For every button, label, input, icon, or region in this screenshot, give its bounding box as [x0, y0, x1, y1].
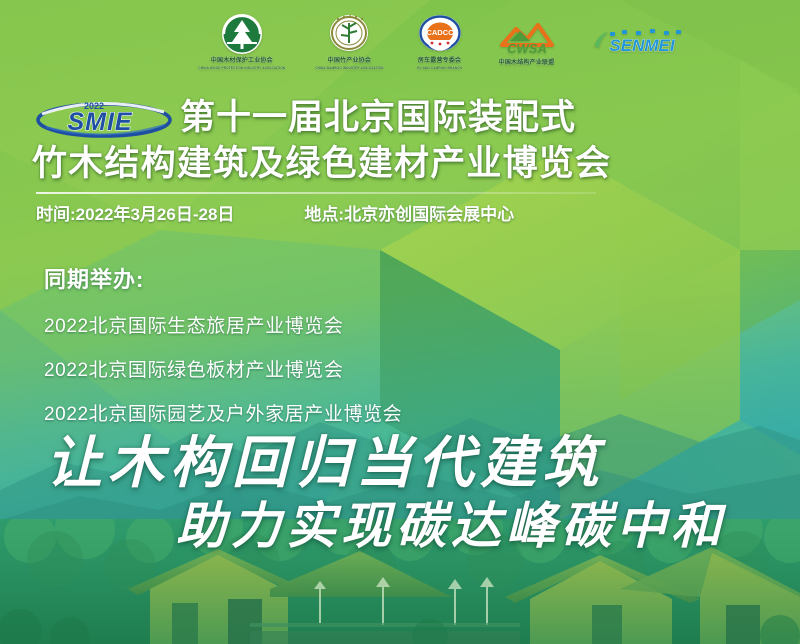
headline-line-1: 第十一届北京国际装配式: [180, 97, 576, 139]
concurrent-item: 2022北京国际绿色板材产业博览会: [44, 355, 664, 382]
cadcc-emblem-icon: CADCC: [414, 13, 466, 57]
svg-text:CADCC: CADCC: [426, 28, 454, 37]
logo-caption: 中国木结构产业联盟: [499, 60, 555, 67]
logo-china-wood-protection-industry-association[interactable]: 中国木材保护工业协会 CHINA WOOD PROTECTION INDUSTR…: [198, 13, 285, 70]
logo-senmei[interactable]: SENMEI: [588, 24, 692, 58]
logo-caption: 中国竹产业协会: [328, 58, 371, 65]
exhibition-poster: 中国木材保护工业协会 CHINA WOOD PROTECTION INDUSTR…: [0, 0, 800, 644]
logo-caption-en: CHINA BAMBOO INDUSTRY ASSOCIATION: [315, 66, 383, 70]
logo-caption: 房车露营专委会: [418, 58, 461, 65]
bamboo-emblem-icon: [324, 13, 374, 57]
house-roof-cwsa-icon: CWSA: [496, 15, 558, 59]
logo-caption-en: CHINA WOOD PROTECTION INDUSTRY ASSOCIATI…: [198, 66, 285, 70]
senmei-wordmark-icon: SENMEI: [588, 24, 692, 58]
logo-cadcc-rv-camping-committee[interactable]: CADCC 房车露营专委会 RV AND CAMPING BRANCH: [414, 13, 466, 70]
headline-line-2: 竹木结构建筑及绿色建材产业博览会: [32, 142, 774, 186]
svg-text:CWSA: CWSA: [507, 41, 547, 56]
pine-tree-emblem-icon: [215, 13, 269, 57]
smie-wordmark: SMIE: [67, 108, 132, 136]
logo-cwsa-wood-structure-alliance[interactable]: CWSA 中国木结构产业联盟: [496, 15, 558, 67]
sponsor-logo-strip: 中国木材保护工业协会 CHINA WOOD PROTECTION INDUSTR…: [0, 0, 800, 82]
smie-logo[interactable]: 2022 SMIE: [34, 97, 174, 139]
concurrent-item: 2022北京国际生态旅居产业博览会: [44, 311, 664, 338]
event-date: 时间:2022年3月26日-28日: [36, 200, 234, 225]
event-meta: 时间:2022年3月26日-28日 地点:北京亦创国际会展中心: [36, 200, 736, 225]
headline-divider: [36, 192, 596, 194]
logo-caption: 中国木材保护工业协会: [211, 58, 273, 65]
concurrent-events-block: 同期举办: 2022北京国际生态旅居产业博览会 2022北京国际绿色板材产业博览…: [44, 262, 664, 426]
headline-block: 2022 SMIE 第十一届北京国际装配式 竹木结构建筑及绿色建材产业博览会: [34, 96, 774, 186]
logo-caption-en: RV AND CAMPING BRANCH: [417, 66, 462, 70]
logo-bamboo-industry-association[interactable]: 中国竹产业协会 CHINA BAMBOO INDUSTRY ASSOCIATIO…: [315, 13, 383, 70]
event-venue: 地点:北京亦创国际会展中心: [304, 200, 514, 225]
concurrent-title: 同期举办:: [44, 262, 664, 294]
svg-text:SENMEI: SENMEI: [609, 36, 675, 55]
slogan-line-2: 助力实现碳达峰碳中和: [176, 486, 726, 558]
